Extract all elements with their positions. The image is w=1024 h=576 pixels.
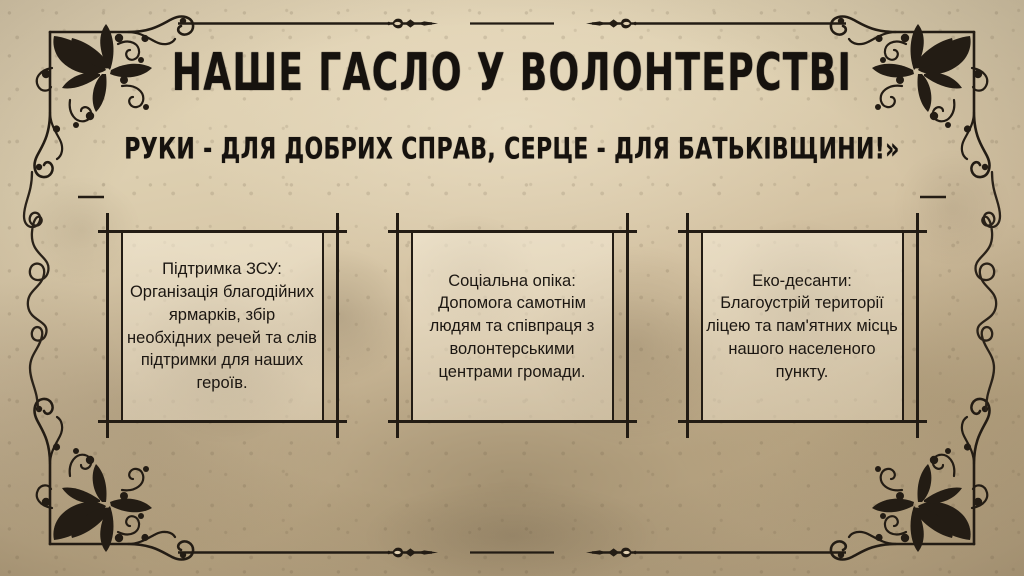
content-card: Еко-десанти: Благоустрій території ліцею… (678, 213, 927, 438)
card-text: Підтримка ЗСУ: Організація благодійних я… (126, 230, 319, 423)
cards-row: Підтримка ЗСУ: Організація благодійних я… (0, 213, 1024, 438)
card-rule-left (686, 213, 689, 438)
card-rule-right (336, 213, 339, 438)
content-card: Соціальна опіка: Допомога самотнім людям… (388, 213, 637, 438)
card-rule-left (396, 213, 399, 438)
slide-title: НАШЕ ГАСЛО У ВОЛОНТЕРСТВІ (72, 47, 953, 98)
slide-canvas: НАШЕ ГАСЛО У ВОЛОНТЕРСТВІ РУКИ - ДЛЯ ДОБ… (0, 0, 1024, 576)
card-rule-right (626, 213, 629, 438)
content-card: Підтримка ЗСУ: Організація благодійних я… (98, 213, 347, 438)
card-text: Еко-десанти: Благоустрій території ліцею… (706, 230, 899, 423)
slide-subtitle: РУКИ - ДЛЯ ДОБРИХ СПРАВ, СЕРЦЕ - ДЛЯ БАТ… (61, 134, 962, 163)
card-rule-left (106, 213, 109, 438)
card-text: Соціальна опіка: Допомога самотнім людям… (416, 230, 609, 423)
card-rule-right (916, 213, 919, 438)
